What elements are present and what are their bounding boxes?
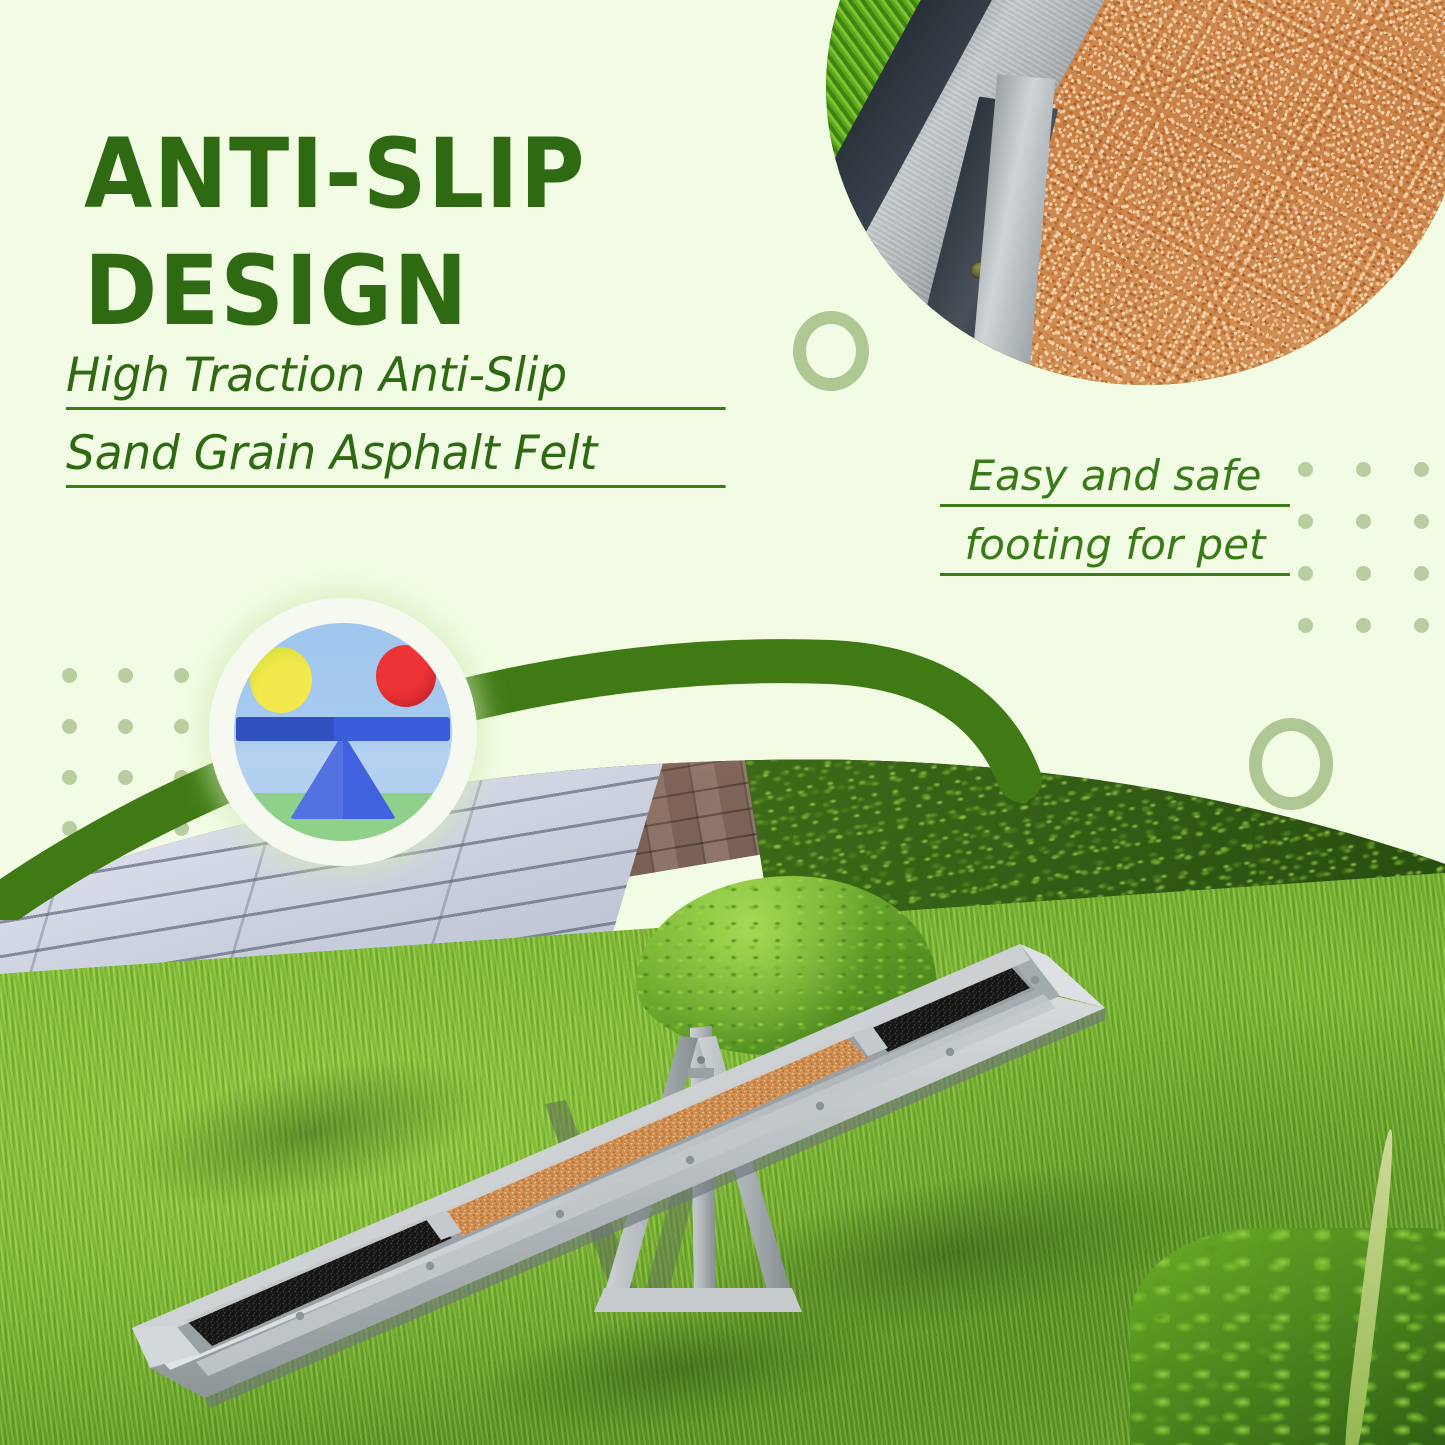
- decor-dot: [1356, 514, 1371, 529]
- marketing-banner: Anti-Slip Design High Traction Anti-Slip…: [0, 0, 1445, 1445]
- subheading: High Traction Anti-Slip Sand Grain Aspha…: [66, 352, 746, 508]
- page-title: Anti-Slip Design: [84, 116, 691, 350]
- subheading-line-2: Sand Grain Asphalt Felt: [66, 430, 726, 488]
- headline-line-2: Design: [84, 233, 691, 350]
- caption-line-1: Easy and safe: [940, 455, 1290, 507]
- decor-dot: [1356, 462, 1371, 477]
- yellow-green-ball-icon: [250, 647, 312, 713]
- balance-seesaw-badge: [209, 598, 477, 866]
- decor-dot: [1298, 514, 1313, 529]
- inset-photo-frame: [826, 0, 1445, 385]
- decor-dot: [1298, 566, 1313, 581]
- anti-slip-surface-closeup-photo: [826, 0, 1445, 385]
- decor-dot: [1414, 566, 1429, 581]
- caption-line-2: footing for pet: [940, 524, 1290, 576]
- decor-dot: [1414, 514, 1429, 529]
- red-ball-icon: [376, 645, 436, 707]
- feature-caption: Easy and safe footing for pet: [940, 455, 1290, 593]
- headline-line-1: Anti-Slip: [84, 116, 691, 233]
- subheading-line-1: High Traction Anti-Slip: [66, 352, 726, 410]
- blue-beam-icon: [236, 717, 450, 741]
- decor-dot: [1298, 462, 1313, 477]
- seesaw-balance-icon: [234, 623, 452, 841]
- blue-triangle-fulcrum-icon: [290, 733, 396, 819]
- decor-dot: [1414, 462, 1429, 477]
- seesaw-plank: [132, 944, 1105, 1408]
- decor-dot: [1356, 566, 1371, 581]
